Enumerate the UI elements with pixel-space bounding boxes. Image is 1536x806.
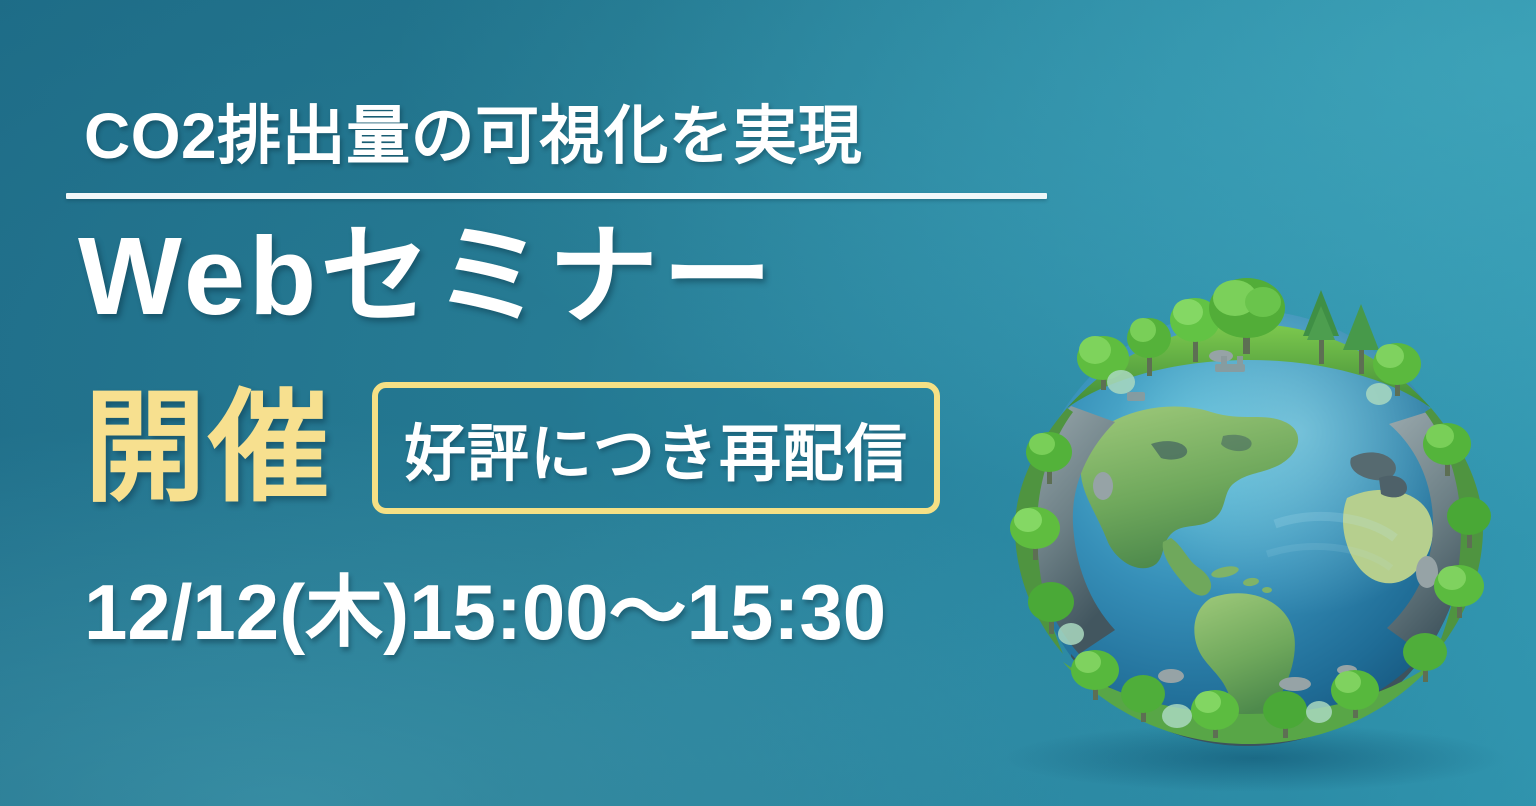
webinar-banner: CO2排出量の可視化を実現 Webセミナー 開催 好評につき再配信 12/12(…	[0, 0, 1536, 806]
status-badge-label: 好評につき再配信	[404, 403, 908, 493]
text-content: CO2排出量の可視化を実現 Webセミナー 開催 好評につき再配信 12/12(…	[0, 0, 1100, 806]
kaisai-row: 開催 好評につき再配信	[84, 382, 940, 514]
headline-underline	[66, 193, 1047, 199]
status-badge: 好評につき再配信	[372, 382, 940, 514]
page-title: Webセミナー	[78, 222, 776, 332]
kaisai-label: 開催	[84, 387, 332, 509]
event-datetime: 12/12(木)15:00〜15:30	[84, 572, 886, 654]
headline: CO2排出量の可視化を実現	[84, 104, 862, 169]
